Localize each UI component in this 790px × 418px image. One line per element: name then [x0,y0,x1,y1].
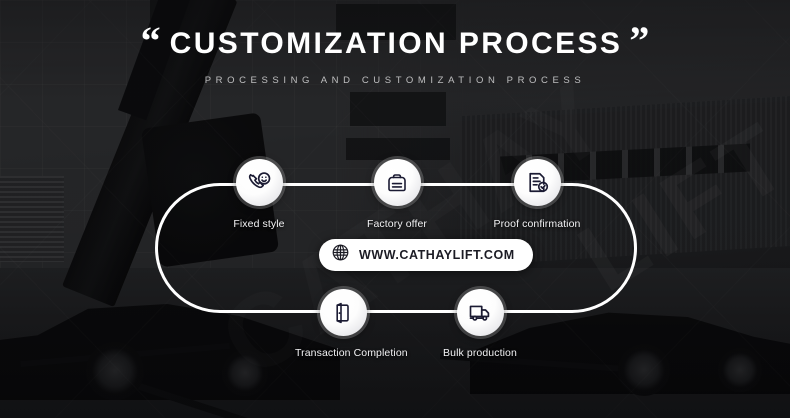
flow-step-factory-offer[interactable]: Factory offer [349,159,445,230]
flow-step-bubble[interactable] [514,159,561,206]
website-url-label: WWW.CATHAYLIFT.COM [359,248,515,262]
flow-step-bubble[interactable] [236,159,283,206]
flow-step-fixed-style[interactable]: Fixed style [211,159,307,230]
globe-icon [331,243,350,267]
process-flow: Fixed style Factory offer [0,0,790,418]
door-icon [331,301,355,325]
flow-step-bubble[interactable] [320,289,367,336]
customization-process-banner: LIFT CATHAY “ CUSTOMIZATION PROCESS ” PR… [0,0,790,418]
flow-step-label: Factory offer [349,218,445,230]
website-url-button[interactable]: WWW.CATHAYLIFT.COM [319,239,533,271]
flow-step-proof-confirmation[interactable]: Proof confirmation [489,159,585,230]
phone-smiley-icon [247,170,272,195]
flow-step-label: Transaction Completion [295,347,391,359]
flow-step-transaction-completion[interactable]: Transaction Completion [295,289,391,359]
flow-step-label: Bulk production [432,347,528,359]
briefcase-icon [385,171,409,195]
document-check-icon [525,170,550,195]
flow-step-label: Fixed style [211,218,307,230]
flow-step-bubble[interactable] [457,289,504,336]
flow-step-label: Proof confirmation [489,218,585,230]
flow-step-bulk-production[interactable]: Bulk production [432,289,528,359]
truck-icon [468,300,493,325]
flow-step-bubble[interactable] [374,159,421,206]
